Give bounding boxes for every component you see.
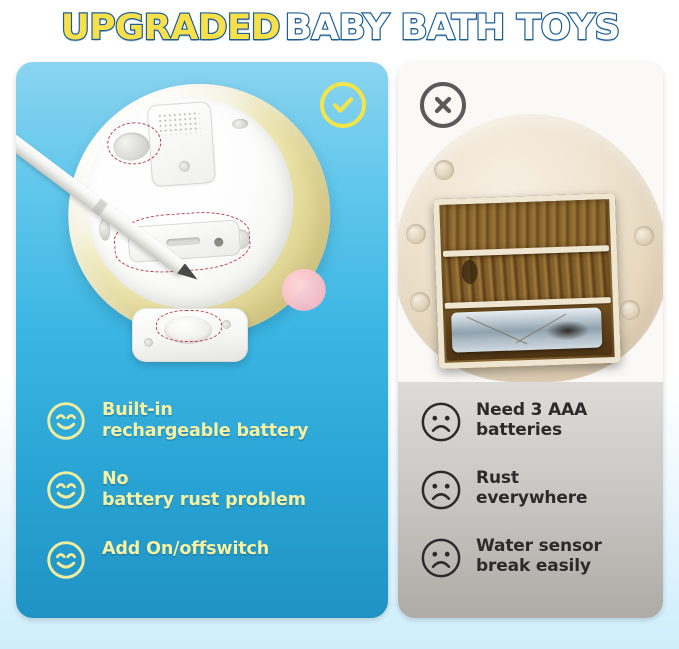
check-circle-icon	[320, 82, 366, 128]
old-product-photo	[398, 62, 663, 382]
smiley-face-icon	[46, 401, 86, 441]
list-item: Need 3 AAA batteries	[420, 400, 653, 443]
highlight-ring-switch	[156, 310, 222, 342]
toy-pink-accent	[280, 267, 327, 312]
screw-icon	[406, 224, 426, 244]
screw-icon	[410, 292, 430, 312]
upgraded-benefits-list: Built-in rechargeable battery No battery…	[16, 382, 388, 618]
aaa-battery	[451, 307, 602, 352]
comparison-panels: Built-in rechargeable battery No battery…	[0, 62, 679, 618]
screw-icon	[434, 160, 454, 180]
old-product-panel: Need 3 AAA batteries Rust everywhere	[398, 62, 663, 618]
sad-face-icon	[420, 401, 462, 443]
screw-icon	[179, 161, 191, 173]
upgraded-product-panel: Built-in rechargeable battery No battery…	[16, 62, 388, 618]
sad-face-icon	[420, 537, 462, 579]
list-item: Add On/offswitch	[46, 539, 372, 580]
screw-icon	[222, 320, 231, 329]
screw-icon	[620, 300, 640, 320]
list-item-label: Built-in rechargeable battery	[102, 400, 308, 441]
sad-face-icon	[420, 469, 462, 511]
old-product-issues-list: Need 3 AAA batteries Rust everywhere	[398, 382, 663, 618]
list-item: Water sensor break easily	[420, 536, 653, 579]
list-item: Rust everywhere	[420, 468, 653, 511]
list-item-label: Water sensor break easily	[476, 536, 602, 576]
list-item-label: Rust everywhere	[476, 468, 587, 508]
smiley-face-icon	[46, 540, 86, 580]
title-word-upgraded: UPGRADED	[61, 11, 280, 46]
screw-icon	[634, 226, 654, 246]
rust-stain	[441, 199, 609, 253]
list-item: No battery rust problem	[46, 469, 372, 510]
screw-icon	[144, 338, 153, 347]
x-circle-icon	[420, 82, 466, 128]
list-item: Built-in rechargeable battery	[46, 400, 372, 441]
corrosion-spot	[545, 320, 590, 342]
smiley-face-icon	[46, 470, 86, 510]
list-item-label: Add On/offswitch	[102, 539, 269, 560]
speaker-holes-icon	[157, 111, 200, 136]
toy-casing	[398, 114, 663, 382]
upgraded-product-photo	[16, 62, 388, 382]
list-item-label: No battery rust problem	[102, 469, 306, 510]
list-item-label: Need 3 AAA batteries	[476, 400, 587, 440]
title-word-baby-bath-toys: BABY BATH TOYS	[284, 11, 619, 46]
page-title: UPGRADED BABY BATH TOYS	[0, 0, 679, 54]
